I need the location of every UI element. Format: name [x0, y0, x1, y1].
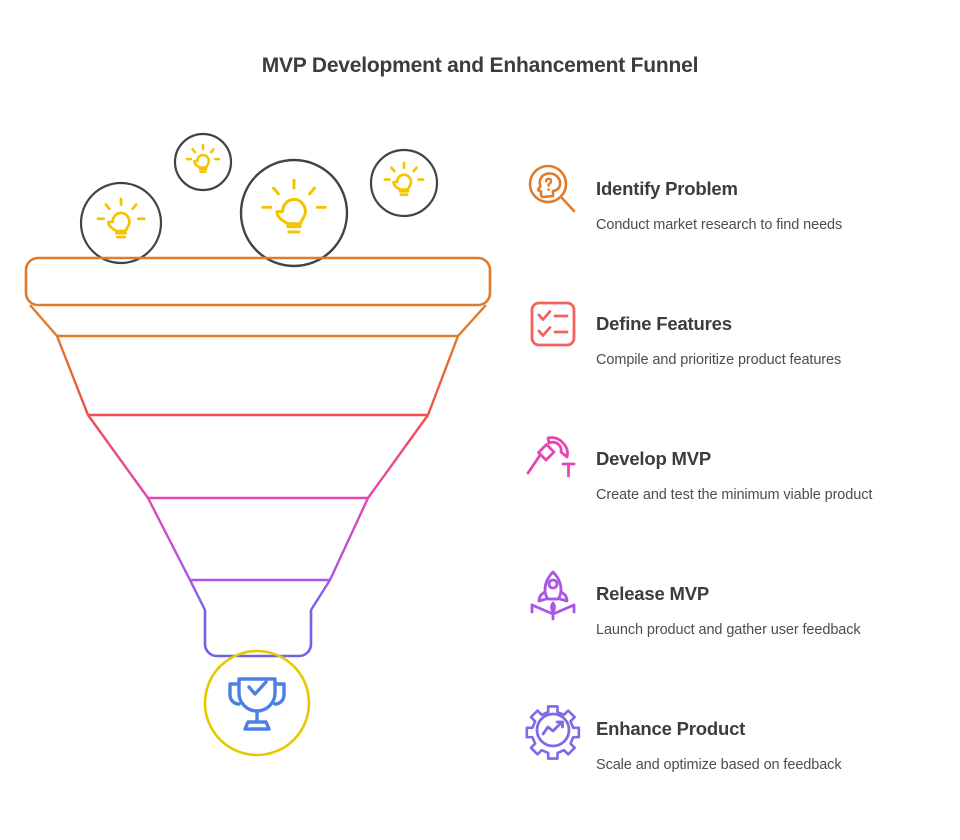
funnel-stem: [205, 610, 311, 656]
idea-bulb-1: [81, 183, 161, 263]
legend-description: Scale and optimize based on feedback: [596, 739, 956, 773]
funnel-wall-right-2: [428, 336, 458, 415]
hammer-nail-icon: [524, 432, 582, 490]
funnel-wall-right-3: [368, 415, 428, 498]
funnel-mouth: [26, 258, 490, 305]
idea-bulb-3: [241, 160, 347, 266]
funnel-wall-left-2: [57, 336, 88, 415]
legend-item-develop-mvp[interactable]: Develop MVP Create and test the minimum …: [520, 420, 960, 555]
legend-title: Identify Problem: [596, 150, 956, 199]
legend-title: Enhance Product: [596, 690, 956, 739]
rocket-launchpad-icon: [524, 567, 582, 625]
funnel-wall-left-4: [148, 498, 190, 580]
funnel-diagram: [0, 90, 520, 810]
page-title: MVP Development and Enhancement Funnel: [0, 54, 960, 78]
legend-item-define-features[interactable]: Define Features Compile and prioritize p…: [520, 285, 960, 420]
funnel-wall-left-5: [190, 580, 205, 610]
legend-item-release-mvp[interactable]: Release MVP Launch product and gather us…: [520, 555, 960, 690]
legend-description: Conduct market research to find needs: [596, 199, 956, 233]
legend-list: Identify Problem Conduct market research…: [520, 150, 960, 825]
funnel-wall-left-1: [30, 305, 57, 336]
checklist-square-icon: [524, 297, 582, 355]
legend-description: Create and test the minimum viable produ…: [596, 469, 956, 503]
legend-item-enhance-product[interactable]: Enhance Product Scale and optimize based…: [520, 690, 960, 825]
idea-bulb-4: [371, 150, 437, 216]
idea-bulb-2: [175, 134, 231, 190]
funnel-outcome-trophy: [205, 651, 309, 755]
funnel-wall-right-5: [311, 580, 330, 610]
legend-title: Define Features: [596, 285, 956, 334]
legend-description: Launch product and gather user feedback: [596, 604, 956, 638]
legend-title: Develop MVP: [596, 420, 956, 469]
gear-trendline-icon: [524, 702, 582, 760]
legend-description: Compile and prioritize product features: [596, 334, 956, 368]
funnel-wall-right-4: [330, 498, 368, 580]
funnel-wall-right-1: [458, 305, 486, 336]
legend-item-identify-problem[interactable]: Identify Problem Conduct market research…: [520, 150, 960, 285]
legend-title: Release MVP: [596, 555, 956, 604]
magnifier-head-question-icon: [524, 162, 582, 220]
funnel-wall-left-3: [88, 415, 148, 498]
